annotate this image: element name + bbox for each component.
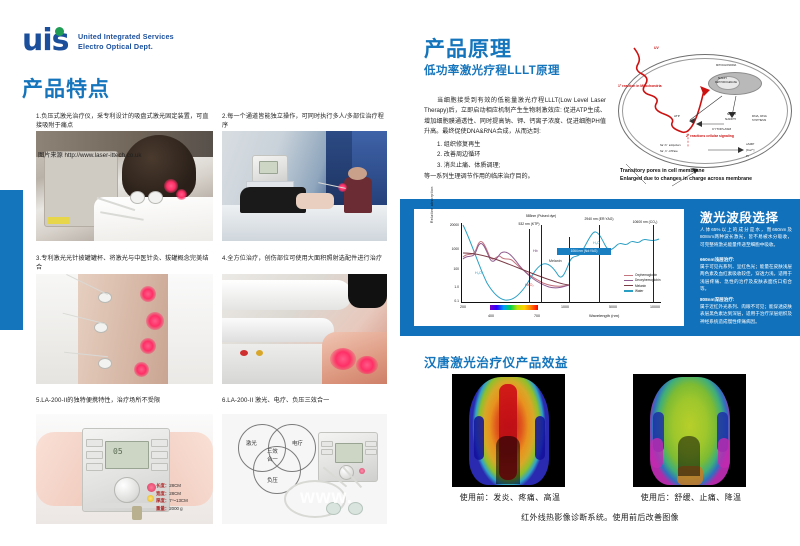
principle-list-item-3: 3. 消炎止痛、体质调理; [437, 161, 606, 171]
legend-item-0: Oxyhemoglobin [635, 273, 657, 277]
chart-xtick-1: 400 [488, 314, 494, 318]
spec-label-1: 宽度： [156, 491, 169, 496]
feature-photo-1 [36, 131, 213, 241]
feature-caption-2: 2.每一个通道皆能独立操作，可同时执行多人/多部位治疗程序 [222, 112, 388, 131]
nadph-label: NADPH [725, 117, 736, 121]
chart-curve-label-water-2: H₂O [593, 241, 600, 245]
thermal-note: 红外线热影像诊断系统。使用前后改善图像 [400, 512, 800, 523]
chart-plot-area: 20000 1000 100 1.0 0.1 200 400 700 1000 … [461, 223, 661, 303]
logo-line-2: Electro Optical Dept. [78, 42, 153, 51]
venn-center-line1: 三效 [267, 447, 278, 455]
spec-value-3: 2000 g [169, 506, 182, 511]
right-subtitle: 低功率激光疗程LLLT原理 [424, 62, 560, 78]
feature-photo-2 [222, 131, 387, 241]
chart-curve-label-hbo2: HbO₂ [525, 283, 534, 287]
chart-annotation-585: 585nm (Pulsed dye) [526, 214, 556, 218]
visible-spectrum-bar [490, 305, 538, 310]
chart-annotation-1064: 1064 nm (Nd:YAG) [557, 248, 611, 255]
wavelength-660-body: 属于可见光系列、呈红色光；能量在皮肤浅层两色素及血红素吸收较佳，穿透力浅，适用于… [700, 263, 792, 293]
logo-line-1: United Integrated Services [78, 32, 174, 41]
uis-logo: uis United Integrated Services Electro O… [22, 26, 252, 58]
chart-vline-585 [541, 225, 542, 303]
chart-ytick-0: 0.1 [454, 299, 459, 303]
primary-reaction-label: 1° reaction in Mitochondria [618, 84, 662, 88]
feature-photo-4 [222, 274, 387, 384]
thermal-image-after [633, 374, 746, 487]
chart-xtick-2: 700 [534, 314, 540, 318]
dehydrogenase-label: DEHYDROGENASE [715, 81, 737, 84]
chart-curve-label-melanin: Melanin [549, 259, 562, 263]
nadh-label: NADH [727, 112, 736, 116]
calcium-label: [Ca²⁺] [746, 148, 754, 152]
chart-xtick-3: 1000 [561, 305, 569, 309]
chart-vline-532 [529, 229, 530, 303]
chart-vline-2940 [599, 225, 600, 303]
cell-diagram-caption-1: Transitory pores in cell membrane [620, 168, 704, 176]
na-k-antiporter-label: Na⁺/K⁺ antiporters [660, 144, 681, 147]
spec-value-1: 28CM [169, 491, 181, 496]
wavelength-panel: Relative absorption 20000 1000 100 1.0 0… [400, 199, 800, 336]
watermark: www. [300, 487, 353, 509]
pi-label: Pi [746, 154, 749, 158]
spec-label-0: 长度： [156, 483, 169, 488]
spec-label-2: 厚度： [156, 498, 169, 503]
chart-xtick-5: 10000 [650, 305, 660, 309]
thermal-caption-after: 使用后：舒缓、止痛、降温 [620, 492, 762, 503]
brochure-page: uis United Integrated Services Electro O… [0, 0, 800, 546]
cytoplasm-label: CYTOPLASM [712, 127, 731, 131]
feature-caption-4: 4.全方位治疗，创伤部位可使用大面积照射选配件进行治疗 [222, 254, 390, 263]
nadh-dehydrogenase-label: NADH [718, 76, 727, 80]
chart-legend: Oxyhemoglobin Deoxyhemoglobin Melanin Wa… [624, 273, 661, 294]
mitochondria-label: MITOCHONDRIA [716, 64, 736, 67]
atp-label: ATP [674, 114, 680, 118]
wavelength-808-body: 属于近红外光系列、肉眼不可见；能穿透皮肤表层黑色素达到深层，适用于治疗深层组织及… [700, 303, 792, 325]
spec-value-2: 7～13CM [169, 498, 188, 503]
venn-label-electro: 电疗 [292, 439, 303, 447]
chart-annotation-2940: 2940 nm (ER:YAG) [585, 217, 614, 221]
device-spec-list: 长度：28CM 宽度：28CM 厚度：7～13CM 重量：2000 g [156, 482, 212, 513]
venn-label-laser: 激光 [246, 439, 257, 447]
feature-caption-5: 5.LA-200-II的独特便携特性，治疗场所不受限 [36, 396, 214, 405]
wavelength-intro: 人体65%以上的成分是水，而660nm及808nm两种波长激光，皆不易被水分吸收… [700, 226, 792, 248]
chart-ytick-4: 20000 [450, 223, 459, 227]
chart-curve-label-hb: Hb [533, 249, 538, 253]
principle-intro: 当细胞接受到有效的低能量激光疗程LLLT(Low Level Laser The… [424, 96, 606, 138]
principle-body-text: 当细胞接受到有效的低能量激光疗程LLLT(Low Level Laser The… [424, 96, 606, 182]
wavelength-panel-title: 激光波段选择 [700, 207, 779, 226]
legend-item-1: Deoxyhemoglobin [635, 278, 661, 282]
thermal-image-before [452, 374, 565, 487]
chart-xtick-4: 5000 [609, 305, 617, 309]
legend-item-3: Water [635, 289, 643, 293]
spec-label-3: 重量： [156, 506, 169, 511]
feature-photo-3 [36, 274, 213, 384]
principle-tail: 等一系列生理调节作用的临床治疗目的。 [424, 172, 606, 182]
venn-label-vacuum: 负压 [267, 476, 278, 484]
feature-caption-6: 6.LA-200-II 激光、电疗、负压三效合一 [222, 396, 390, 405]
right-section-title: 产品原理 [424, 33, 512, 63]
chart-annotation-10600: 10600 nm (CO₂) [633, 220, 658, 224]
chart-annotation-532: 532 nm (KTP) [518, 222, 539, 226]
left-accent-bar [0, 190, 23, 330]
cell-diagram-caption-2: Enlarged due to changes in charge across… [620, 176, 752, 184]
chart-ytick-3: 1000 [452, 247, 459, 251]
dna-rna-synthesis-label: SYNTHESIS [752, 119, 766, 122]
feature-photo-5: 05 长度：28CM 宽度：28CM 厚度：7～13CM 重量：2000 g [36, 414, 213, 524]
uv-label: UV [654, 46, 659, 50]
chart-xlabel: Wavelength (nm) [589, 313, 619, 318]
spec-value-0: 28CM [169, 483, 181, 488]
na-k-atpase-label: Na⁺,K⁺-ATPase [660, 150, 678, 153]
principle-list-item-1: 1. 组织修复再生 [437, 140, 606, 150]
cell-diagram-source: 图片来源 http://www.laser-ittech.co.uk [38, 150, 142, 159]
benefits-title: 汉唐激光治疗仪产品效益 [424, 352, 568, 371]
chart-ytick-2: 100 [453, 267, 459, 271]
feature-caption-3: 3.专利激光光针披罐罐杯、将激光与中医针灸、拔罐概念完美结合 [36, 254, 214, 273]
principle-list-item-2: 2. 改善周边循环 [437, 150, 606, 160]
chart-xtick-0: 200 [460, 305, 466, 309]
left-section-title: 产品特点 [22, 73, 110, 103]
chart-ylabel: Relative absorption [430, 143, 434, 223]
dna-rna-label: DNA, RNA [752, 114, 767, 118]
absorption-spectrum-chart: Relative absorption 20000 1000 100 1.0 0… [414, 209, 684, 326]
legend-item-2: Melanin [635, 284, 646, 288]
chart-vline-1064 [569, 237, 570, 303]
secondary-reaction-label: 2° reactions cellular signaling [686, 134, 734, 138]
cell-mechanism-diagram: UV MITOCHONDRIA NADH DEHYDROGENASE 1° re… [612, 38, 796, 198]
feature-caption-1: 1.负压式激光治疗仪，采专利设计的吸盘式激光固定装置，可直接吸附于痛点 [36, 112, 214, 131]
chart-curve-label-water: H₂O [475, 271, 482, 275]
venn-center-line2: 合一 [267, 455, 278, 463]
logo-dot-icon [55, 27, 64, 36]
thermal-caption-before: 使用前：发炎、疼痛、高温 [440, 492, 580, 503]
camp-label: cAMP [746, 142, 754, 146]
chart-ytick-1: 1.0 [454, 285, 459, 289]
